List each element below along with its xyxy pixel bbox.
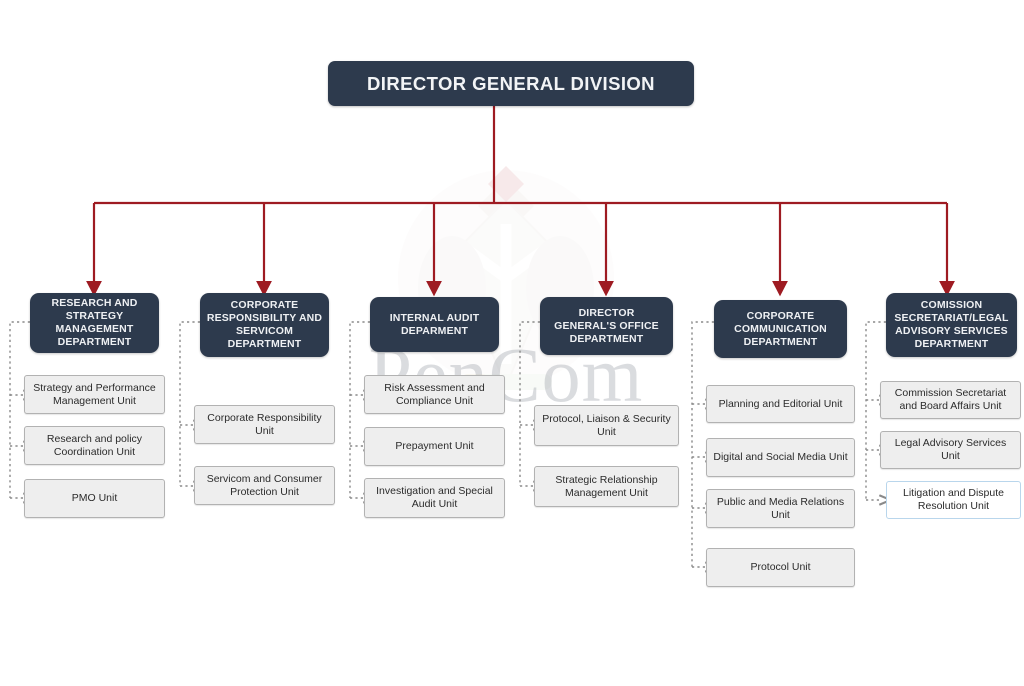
unit-label: Public and Media Relations Unit [713,496,848,522]
root-label: DIRECTOR GENERAL DIVISION [328,73,694,95]
unit-node-strategy-and-performance-management[interactable]: Strategy and Performance Management Unit [24,375,165,414]
department-label: RESEARCH AND STRATEGY MANAGEMENT DEPARTM… [36,297,153,349]
unit-label: Planning and Editorial Unit [713,398,848,411]
department-node-corporate-responsibility-and-servicom[interactable]: CORPORATE RESPONSIBILITY AND SERVICOM DE… [200,293,329,357]
department-label: CORPORATE COMMUNICATION DEPARTMENT [720,310,841,349]
unit-node-protocol[interactable]: Protocol Unit [706,548,855,587]
unit-node-corporate-responsibility[interactable]: Corporate Responsibility Unit [194,405,335,444]
unit-label: Litigation and Dispute Resolution Unit [893,487,1014,513]
unit-label: Prepayment Unit [371,440,498,453]
unit-label: PMO Unit [31,492,158,505]
unit-node-planning-and-editorial[interactable]: Planning and Editorial Unit [706,385,855,423]
department-node-research-and-strategy-management[interactable]: RESEARCH AND STRATEGY MANAGEMENT DEPARTM… [30,293,159,353]
org-chart: PenCom [0,0,1024,686]
unit-node-prepayment[interactable]: Prepayment Unit [364,427,505,466]
unit-node-risk-assessment-and-compliance[interactable]: Risk Assessment and Compliance Unit [364,375,505,414]
unit-label: Servicom and Consumer Protection Unit [201,473,328,499]
department-label: INTERNAL AUDIT DEPARMENT [376,312,493,338]
unit-label: Digital and Social Media Unit [713,451,848,464]
department-node-commission-secretariat-legal-advisory[interactable]: COMISSION SECRETARIAT/LEGAL ADVISORY SER… [886,293,1017,357]
unit-node-public-and-media-relations[interactable]: Public and Media Relations Unit [706,489,855,528]
department-node-corporate-communication[interactable]: CORPORATE COMMUNICATION DEPARTMENT [714,300,847,358]
root-node-director-general-division[interactable]: DIRECTOR GENERAL DIVISION [328,61,694,106]
unit-label: Research and policy Coordination Unit [31,433,158,459]
unit-label: Protocol, Liaison & Security Unit [541,413,672,439]
unit-node-research-and-policy-coordination[interactable]: Research and policy Coordination Unit [24,426,165,465]
unit-node-digital-and-social-media[interactable]: Digital and Social Media Unit [706,438,855,477]
unit-label: Strategy and Performance Management Unit [31,382,158,408]
unit-label: Corporate Responsibility Unit [201,412,328,438]
department-node-director-generals-office[interactable]: DIRECTOR GENERAL'S OFFICE DEPARTMENT [540,297,673,355]
unit-label: Strategic Relationship Management Unit [541,474,672,500]
unit-label: Investigation and Special Audit Unit [371,485,498,511]
unit-node-strategic-relationship-management[interactable]: Strategic Relationship Management Unit [534,466,679,507]
unit-node-investigation-and-special-audit[interactable]: Investigation and Special Audit Unit [364,478,505,518]
unit-label: Legal Advisory Services Unit [887,437,1014,463]
unit-label: Commission Secretariat and Board Affairs… [887,387,1014,413]
unit-node-commission-secretariat-and-board-affairs[interactable]: Commission Secretariat and Board Affairs… [880,381,1021,419]
unit-node-protocol-liaison-and-security[interactable]: Protocol, Liaison & Security Unit [534,405,679,446]
unit-node-pmo[interactable]: PMO Unit [24,479,165,518]
unit-node-servicom-and-consumer-protection[interactable]: Servicom and Consumer Protection Unit [194,466,335,505]
department-node-internal-audit[interactable]: INTERNAL AUDIT DEPARMENT [370,297,499,352]
department-label: COMISSION SECRETARIAT/LEGAL ADVISORY SER… [892,299,1011,351]
unit-label: Risk Assessment and Compliance Unit [371,382,498,408]
unit-node-litigation-and-dispute-resolution[interactable]: Litigation and Dispute Resolution Unit [886,481,1021,519]
red-connectors [94,105,947,288]
unit-node-legal-advisory-services[interactable]: Legal Advisory Services Unit [880,431,1021,469]
department-label: CORPORATE RESPONSIBILITY AND SERVICOM DE… [206,299,323,351]
department-label: DIRECTOR GENERAL'S OFFICE DEPARTMENT [546,307,667,346]
unit-label: Protocol Unit [713,561,848,574]
